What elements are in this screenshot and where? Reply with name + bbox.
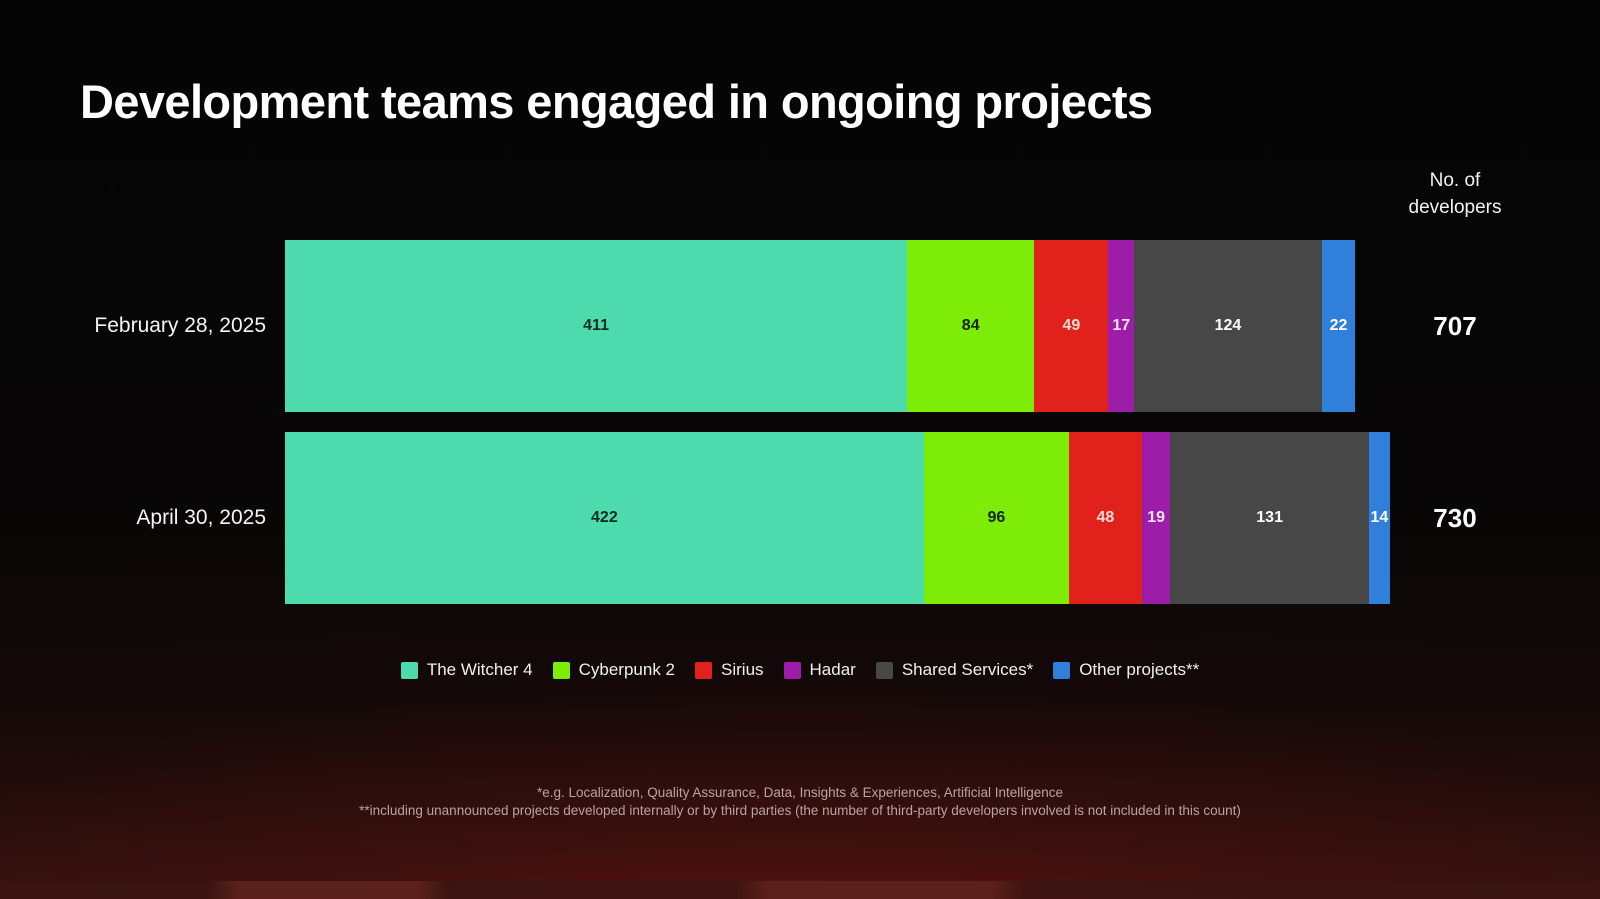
chart-row: April 30, 202542296481913114730 xyxy=(0,432,1600,604)
stacked-bar-chart: February 28, 202541184491712422707April … xyxy=(0,0,1600,899)
bar-segment[interactable]: 19 xyxy=(1142,432,1171,604)
legend-swatch-icon xyxy=(553,662,570,679)
footnote-2: **including unannounced projects develop… xyxy=(0,802,1600,820)
stacked-bar: 41184491712422 xyxy=(285,240,1355,412)
bar-segment-value: 422 xyxy=(591,509,618,527)
row-total-value: 730 xyxy=(1366,432,1544,604)
bar-segment[interactable]: 84 xyxy=(907,240,1034,412)
legend-swatch-icon xyxy=(401,662,418,679)
footnote-1: *e.g. Localization, Quality Assurance, D… xyxy=(0,784,1600,802)
footnotes-block: *e.g. Localization, Quality Assurance, D… xyxy=(0,784,1600,820)
legend-item[interactable]: Cyberpunk 2 xyxy=(553,660,675,680)
bar-segment[interactable]: 422 xyxy=(285,432,924,604)
legend-item[interactable]: Sirius xyxy=(695,660,764,680)
legend-label: Other projects** xyxy=(1079,660,1199,680)
bar-segment-value: 48 xyxy=(1097,509,1115,527)
bar-segment-value: 124 xyxy=(1215,317,1242,335)
bar-segment-value: 17 xyxy=(1112,317,1130,335)
legend-item[interactable]: Other projects** xyxy=(1053,660,1199,680)
legend-swatch-icon xyxy=(876,662,893,679)
bar-segment[interactable]: 22 xyxy=(1322,240,1355,412)
legend-swatch-icon xyxy=(784,662,801,679)
bar-segment[interactable]: 411 xyxy=(285,240,907,412)
bar-segment-value: 411 xyxy=(583,317,609,335)
chart-row: February 28, 202541184491712422707 xyxy=(0,240,1600,412)
legend-label: Hadar xyxy=(810,660,856,680)
stacked-bar: 42296481913114 xyxy=(285,432,1390,604)
bar-segment-value: 96 xyxy=(988,509,1006,527)
slide-canvas: Development teams engaged in ongoing pro… xyxy=(0,0,1600,899)
legend-swatch-icon xyxy=(1053,662,1070,679)
legend-item[interactable]: The Witcher 4 xyxy=(401,660,533,680)
bar-segment-value: 14 xyxy=(1370,509,1388,527)
legend-item[interactable]: Shared Services* xyxy=(876,660,1033,680)
bar-segment-value: 22 xyxy=(1330,317,1348,335)
row-total-value: 707 xyxy=(1366,240,1544,412)
legend-item[interactable]: Hadar xyxy=(784,660,856,680)
bar-segment[interactable]: 131 xyxy=(1170,432,1368,604)
bar-segment[interactable]: 124 xyxy=(1134,240,1322,412)
legend-label: Cyberpunk 2 xyxy=(579,660,675,680)
legend-label: Shared Services* xyxy=(902,660,1033,680)
bar-segment[interactable]: 17 xyxy=(1108,240,1134,412)
legend-label: Sirius xyxy=(721,660,764,680)
bar-segment[interactable]: 48 xyxy=(1069,432,1142,604)
bar-segment-value: 19 xyxy=(1147,509,1165,527)
row-category-label: April 30, 2025 xyxy=(136,432,266,604)
legend-swatch-icon xyxy=(695,662,712,679)
bar-segment[interactable]: 96 xyxy=(924,432,1069,604)
row-category-label: February 28, 2025 xyxy=(94,240,266,412)
bar-segment-value: 84 xyxy=(962,317,980,335)
bar-segment[interactable]: 49 xyxy=(1034,240,1108,412)
bottom-accent-bar xyxy=(0,881,1600,899)
chart-legend: The Witcher 4Cyberpunk 2SiriusHadarShare… xyxy=(0,660,1600,680)
bar-segment-value: 131 xyxy=(1256,509,1283,527)
bar-segment-value: 49 xyxy=(1062,317,1080,335)
legend-label: The Witcher 4 xyxy=(427,660,533,680)
